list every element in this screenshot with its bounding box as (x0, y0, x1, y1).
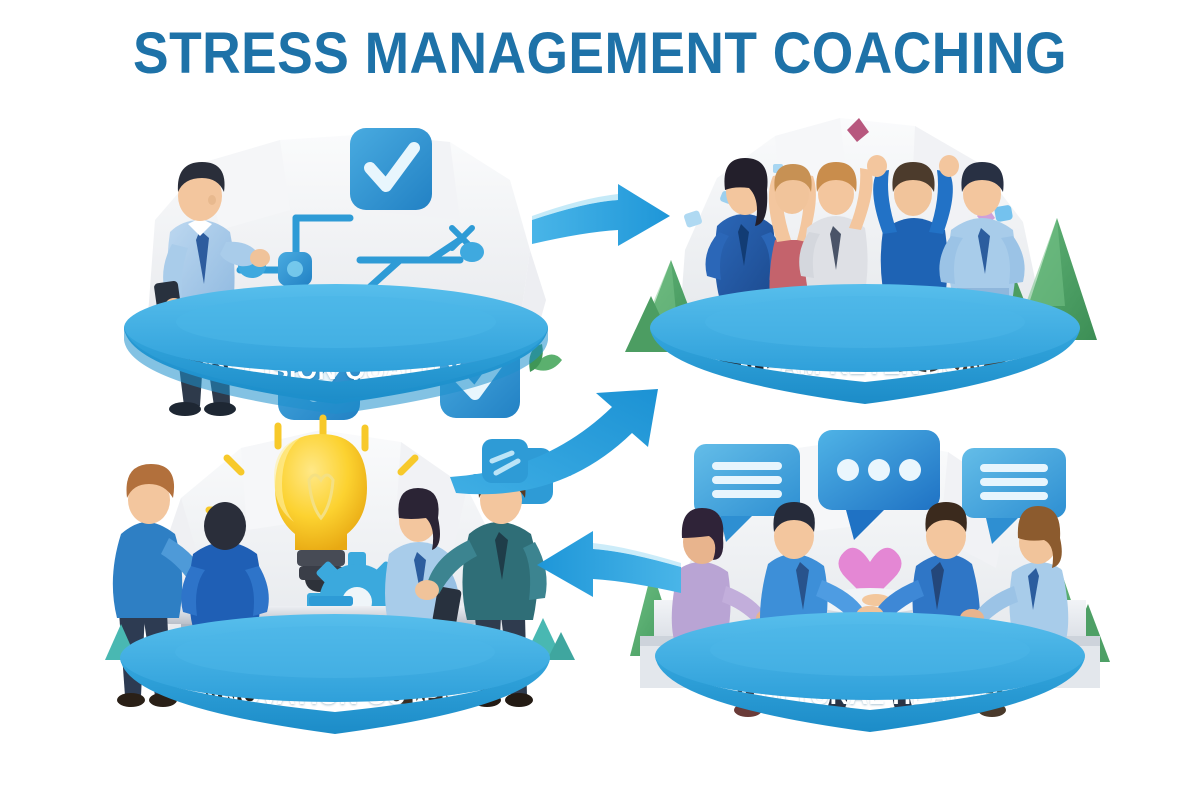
panel-cultural-health[interactable]: CULTURAL HEALTH (630, 420, 1110, 730)
panel-team-retention[interactable]: TEAM RETENTION (625, 100, 1105, 400)
team-retention-illustration (625, 100, 1105, 400)
check-card-bottom-left[interactable] (278, 338, 360, 420)
card-icon (482, 439, 528, 483)
page-title: STRESS MANAGEMENT COACHING (48, 24, 1152, 85)
arrow-cultural-to-innovation (525, 515, 685, 610)
arrow-innovation-to-team (450, 355, 690, 495)
arrow-decision-to-team (528, 178, 678, 258)
check-card-top[interactable] (350, 128, 432, 210)
infographic-canvas: STRESS MANAGEMENT COACHING (0, 0, 1200, 800)
cultural-health-illustration (630, 420, 1110, 730)
